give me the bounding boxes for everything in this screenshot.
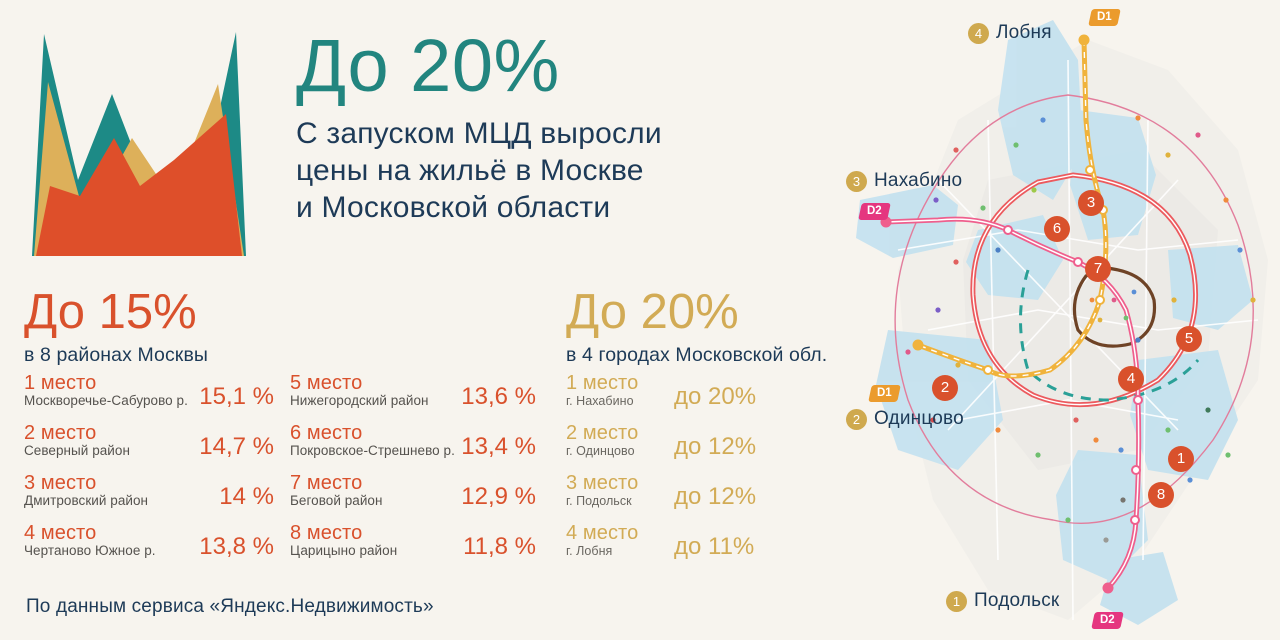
line-badge-d1-north[interactable]: D1 bbox=[1088, 9, 1120, 26]
table-row: 4 место Чертаново Южное р. 13,8 % bbox=[24, 523, 274, 573]
map-endpoint-d2-south bbox=[1103, 583, 1114, 594]
value-label: 14,7 % bbox=[199, 434, 274, 460]
district-marker-6[interactable]: 6 bbox=[1044, 216, 1070, 242]
headline-subtitle-line-3: и Московской области bbox=[296, 189, 816, 226]
source-footer: По данным сервиса «Яндекс.Недвижимость» bbox=[26, 596, 434, 618]
moscow-section-header: До 15% в 8 районах Москвы bbox=[24, 288, 208, 367]
moscow-rank-column-2: 5 место Нижегородский район 13,6 % 6 мес… bbox=[290, 373, 538, 573]
table-row: 3 место Дмитровский район 14 % bbox=[24, 473, 274, 523]
district-marker-2[interactable]: 2 bbox=[932, 375, 958, 401]
table-row: 4 место г. Лобня до 11% bbox=[566, 523, 824, 573]
headline-subtitle-line-1: С запуском МЦД выросли bbox=[296, 115, 816, 152]
line-badge-d2-west[interactable]: D2 bbox=[858, 203, 890, 220]
table-row: 5 место Нижегородский район 13,6 % bbox=[290, 373, 538, 423]
map-graphic bbox=[838, 0, 1280, 640]
city-label-nakhabino[interactable]: 3 Нахабино bbox=[846, 170, 962, 192]
moscow-mcd-map: 3 6 7 5 4 2 1 8 D1 D2 D1 D2 4 Лобня 3 На… bbox=[838, 0, 1280, 640]
table-row: 1 место г. Нахабино до 20% bbox=[566, 373, 824, 423]
table-row: 2 место г. Одинцово до 12% bbox=[566, 423, 824, 473]
district-marker-1[interactable]: 1 bbox=[1168, 446, 1194, 472]
brand-logo bbox=[22, 28, 254, 256]
headline-subtitle: С запуском МЦД выросли цены на жильё в М… bbox=[296, 115, 816, 227]
line-badge-d2-south[interactable]: D2 bbox=[1091, 612, 1123, 629]
value-label: 13,6 % bbox=[461, 384, 536, 410]
region-section-note: в 4 городах Московской обл. bbox=[566, 344, 827, 367]
region-section-title: До 20% bbox=[566, 288, 827, 337]
district-marker-4[interactable]: 4 bbox=[1118, 366, 1144, 392]
table-row: 2 место Северный район 14,7 % bbox=[24, 423, 274, 473]
table-row: 3 место г. Подольск до 12% bbox=[566, 473, 824, 523]
value-label: 12,9 % bbox=[461, 484, 536, 510]
value-label: до 20% bbox=[674, 384, 756, 410]
value-label: 13,4 % bbox=[461, 434, 536, 460]
headline-main: До 20% bbox=[296, 30, 816, 103]
value-label: 15,1 % bbox=[199, 384, 274, 410]
value-label: до 12% bbox=[674, 484, 756, 510]
infographic-root: До 20% С запуском МЦД выросли цены на жи… bbox=[0, 0, 1280, 640]
headline-subtitle-line-2: цены на жильё в Москве bbox=[296, 152, 816, 189]
value-label: до 12% bbox=[674, 434, 756, 460]
moscow-rank-column-1: 1 место Москворечье-Сабурово р. 15,1 % 2… bbox=[24, 373, 274, 573]
map-endpoint-d1-west bbox=[913, 340, 924, 351]
district-marker-3[interactable]: 3 bbox=[1078, 190, 1104, 216]
city-name: Лобня bbox=[996, 22, 1052, 44]
city-label-odintsovo[interactable]: 2 Одинцово bbox=[846, 408, 964, 430]
line-badge-d1-west[interactable]: D1 bbox=[868, 385, 900, 402]
region-rank-column: 1 место г. Нахабино до 20% 2 место г. Од… bbox=[566, 373, 824, 573]
district-marker-7[interactable]: 7 bbox=[1085, 256, 1111, 282]
value-label: до 11% bbox=[674, 534, 754, 560]
value-label: 14 % bbox=[219, 484, 274, 510]
city-label-podolsk[interactable]: 1 Подольск bbox=[946, 590, 1059, 612]
district-marker-5[interactable]: 5 bbox=[1176, 326, 1202, 352]
moscow-section-note: в 8 районах Москвы bbox=[24, 344, 208, 367]
table-row: 6 место Покровское-Стрешнево р. 13,4 % bbox=[290, 423, 538, 473]
city-name: Подольск bbox=[974, 590, 1059, 612]
city-name: Нахабино bbox=[874, 170, 962, 192]
city-badge: 1 bbox=[946, 591, 967, 612]
region-section-header: До 20% в 4 городах Московской обл. bbox=[566, 288, 827, 367]
map-endpoint-d1-north bbox=[1079, 35, 1090, 46]
value-label: 13,8 % bbox=[199, 534, 274, 560]
logo-area-chart bbox=[22, 28, 254, 256]
city-badge: 3 bbox=[846, 171, 867, 192]
value-label: 11,8 % bbox=[463, 534, 536, 560]
table-row: 8 место Царицыно район 11,8 % bbox=[290, 523, 538, 573]
headline-block: До 20% С запуском МЦД выросли цены на жи… bbox=[296, 30, 816, 226]
table-row: 1 место Москворечье-Сабурово р. 15,1 % bbox=[24, 373, 274, 423]
city-name: Одинцово bbox=[874, 408, 964, 430]
city-label-lobnya[interactable]: 4 Лобня bbox=[968, 22, 1052, 44]
city-badge: 2 bbox=[846, 409, 867, 430]
district-marker-8[interactable]: 8 bbox=[1148, 482, 1174, 508]
moscow-section-title: До 15% bbox=[24, 288, 208, 337]
city-badge: 4 bbox=[968, 23, 989, 44]
table-row: 7 место Беговой район 12,9 % bbox=[290, 473, 538, 523]
